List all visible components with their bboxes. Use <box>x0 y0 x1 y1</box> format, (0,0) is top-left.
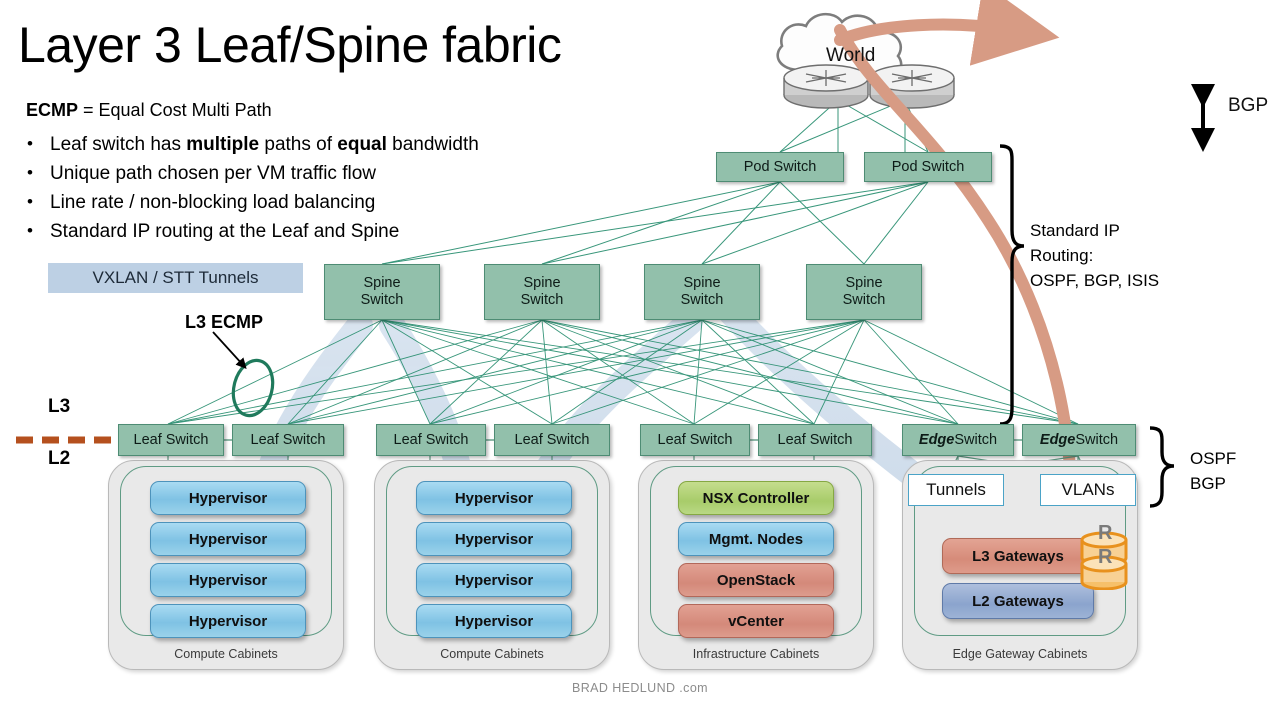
brace-standard-ip <box>1000 146 1024 424</box>
list-item: Standard IP routing at the Leaf and Spin… <box>18 217 618 246</box>
cabinet-label: Compute Cabinets <box>375 647 609 661</box>
node-label: Hypervisor <box>189 490 267 507</box>
standard-ip-routing-annotation: Standard IP Routing: OSPF, BGP, ISIS <box>1030 218 1159 293</box>
leaf-switch-5[interactable]: Leaf Switch <box>640 424 750 456</box>
hypervisor-node[interactable]: Hypervisor <box>150 522 306 556</box>
bullet-text: Line rate / non-blocking load balancing <box>50 192 375 213</box>
annotation-line: Routing: <box>1030 243 1159 268</box>
leaf-switch-6[interactable]: Leaf Switch <box>758 424 872 456</box>
router-letter: R <box>1098 522 1112 545</box>
leaf-switch-label: Leaf Switch <box>134 432 209 449</box>
openstack-node[interactable]: OpenStack <box>678 563 834 597</box>
leaf-switch-2[interactable]: Leaf Switch <box>232 424 344 456</box>
vcenter-node[interactable]: vCenter <box>678 604 834 638</box>
router-letter: R <box>1098 546 1112 569</box>
node-label: L2 Gateways <box>972 593 1064 610</box>
spine-switch-label: Spine <box>845 275 882 292</box>
vxlan-stt-tunnels-label: VXLAN / STT Tunnels <box>48 263 303 293</box>
edge-switch-emphasis: Edge <box>1040 432 1075 449</box>
bullet-text: bandwidth <box>387 134 479 155</box>
node-label: Hypervisor <box>455 490 533 507</box>
hypervisor-node[interactable]: Hypervisor <box>416 563 572 597</box>
annotation-line: BGP <box>1190 471 1236 496</box>
l3-boundary-label: L3 <box>48 396 70 418</box>
leaf-switch-4[interactable]: Leaf Switch <box>494 424 610 456</box>
cabinet-label: Infrastructure Cabinets <box>639 647 873 661</box>
spine-switch-label: Switch <box>361 292 404 309</box>
node-label: Hypervisor <box>189 531 267 548</box>
bullet-text: Standard IP routing at the Leaf and Spin… <box>50 221 399 242</box>
ecmp-acronym: ECMP <box>26 100 78 120</box>
hypervisor-node[interactable]: Hypervisor <box>150 481 306 515</box>
spine-switch-label: Switch <box>521 292 564 309</box>
spine-switch-label: Spine <box>683 275 720 292</box>
leaf-switch-1[interactable]: Leaf Switch <box>118 424 224 456</box>
leaf-switch-3[interactable]: Leaf Switch <box>376 424 486 456</box>
pod-switch-1[interactable]: Pod Switch <box>716 152 844 182</box>
spine-switch-label: Switch <box>843 292 886 309</box>
node-label: Tunnels <box>926 480 986 500</box>
leaf-switch-label: Leaf Switch <box>778 432 853 449</box>
cabinet-label: Edge Gateway Cabinets <box>903 647 1137 661</box>
hypervisor-node[interactable]: Hypervisor <box>150 563 306 597</box>
bullet-strong: equal <box>337 134 387 155</box>
list-item: Unique path chosen per VM traffic flow <box>18 159 618 188</box>
edge-switch-2[interactable]: Edge Switch <box>1022 424 1136 456</box>
ecmp-definition: ECMP = Equal Cost Multi Path <box>26 100 272 121</box>
list-item: Leaf switch has multiple paths of equal … <box>18 130 618 159</box>
l3-gateways-node[interactable]: L3 Gateways <box>942 538 1094 574</box>
spine-switch-1[interactable]: Spine Switch <box>324 264 440 320</box>
l2-gateways-node[interactable]: L2 Gateways <box>942 583 1094 619</box>
node-label: L3 Gateways <box>972 548 1064 565</box>
cabinet-label: Compute Cabinets <box>109 647 343 661</box>
pod-switch-label: Pod Switch <box>744 159 817 176</box>
spine-switch-label: Switch <box>681 292 724 309</box>
spine-switch-label: Spine <box>523 275 560 292</box>
edge-switch-emphasis: Edge <box>919 432 954 449</box>
spine-switch-3[interactable]: Spine Switch <box>644 264 760 320</box>
watermark: BRAD HEDLUND .com <box>0 681 1280 695</box>
node-label: VLANs <box>1062 480 1115 500</box>
page-title: Layer 3 Leaf/Spine fabric <box>18 16 561 74</box>
edge-switch-1[interactable]: Edge Switch <box>902 424 1014 456</box>
hypervisor-node[interactable]: Hypervisor <box>150 604 306 638</box>
l3-ecmp-ellipse <box>228 356 278 420</box>
world-router-right <box>870 65 954 108</box>
node-label: Hypervisor <box>189 572 267 589</box>
list-item: Line rate / non-blocking load balancing <box>18 188 618 217</box>
bullet-text: Unique path chosen per VM traffic flow <box>50 163 376 184</box>
node-label: Hypervisor <box>455 572 533 589</box>
mgmt-nodes-node[interactable]: Mgmt. Nodes <box>678 522 834 556</box>
annotation-line: Standard IP <box>1030 218 1159 243</box>
node-label: OpenStack <box>717 572 795 589</box>
slide-canvas: Layer 3 Leaf/Spine fabric ECMP = Equal C… <box>0 0 1280 720</box>
spine-switch-2[interactable]: Spine Switch <box>484 264 600 320</box>
bullet-list: Leaf switch has multiple paths of equal … <box>18 130 618 246</box>
annotation-line: OSPF, BGP, ISIS <box>1030 268 1159 293</box>
leaf-switch-label: Leaf Switch <box>251 432 326 449</box>
nsx-controller-node[interactable]: NSX Controller <box>678 481 834 515</box>
spine-switch-label: Spine <box>363 275 400 292</box>
ecmp-expansion: = Equal Cost Multi Path <box>78 100 272 120</box>
bgp-label: BGP <box>1228 95 1268 117</box>
pod-switch-2[interactable]: Pod Switch <box>864 152 992 182</box>
leaf-switch-label: Leaf Switch <box>515 432 590 449</box>
node-label: Mgmt. Nodes <box>709 531 803 548</box>
annotation-line: OSPF <box>1190 446 1236 471</box>
node-label: Hypervisor <box>189 613 267 630</box>
node-label: Hypervisor <box>455 613 533 630</box>
leaf-switch-label: Leaf Switch <box>394 432 469 449</box>
spine-switch-4[interactable]: Spine Switch <box>806 264 922 320</box>
vlans-box[interactable]: VLANs <box>1040 474 1136 506</box>
bullet-text: Leaf switch has <box>50 134 186 155</box>
l2-boundary-label: L2 <box>48 448 70 470</box>
world-cloud-label: World <box>826 45 875 67</box>
hypervisor-node[interactable]: Hypervisor <box>416 604 572 638</box>
hypervisor-node[interactable]: Hypervisor <box>416 522 572 556</box>
l3-ecmp-label: L3 ECMP <box>185 312 263 333</box>
edge-switch-label: Switch <box>1075 432 1118 449</box>
world-router-left <box>784 65 868 108</box>
node-label: vCenter <box>728 613 784 630</box>
leaf-switch-label: Leaf Switch <box>658 432 733 449</box>
brace-ospf-bgp <box>1150 428 1174 506</box>
hypervisor-node[interactable]: Hypervisor <box>416 481 572 515</box>
bullet-text: paths of <box>259 134 337 155</box>
pod-switch-label: Pod Switch <box>892 159 965 176</box>
ospf-bgp-annotation: OSPF BGP <box>1190 446 1236 496</box>
node-label: NSX Controller <box>703 490 810 507</box>
edge-switch-label: Switch <box>954 432 997 449</box>
bullet-strong: multiple <box>186 134 259 155</box>
tunnels-box[interactable]: Tunnels <box>908 474 1004 506</box>
node-label: Hypervisor <box>455 531 533 548</box>
